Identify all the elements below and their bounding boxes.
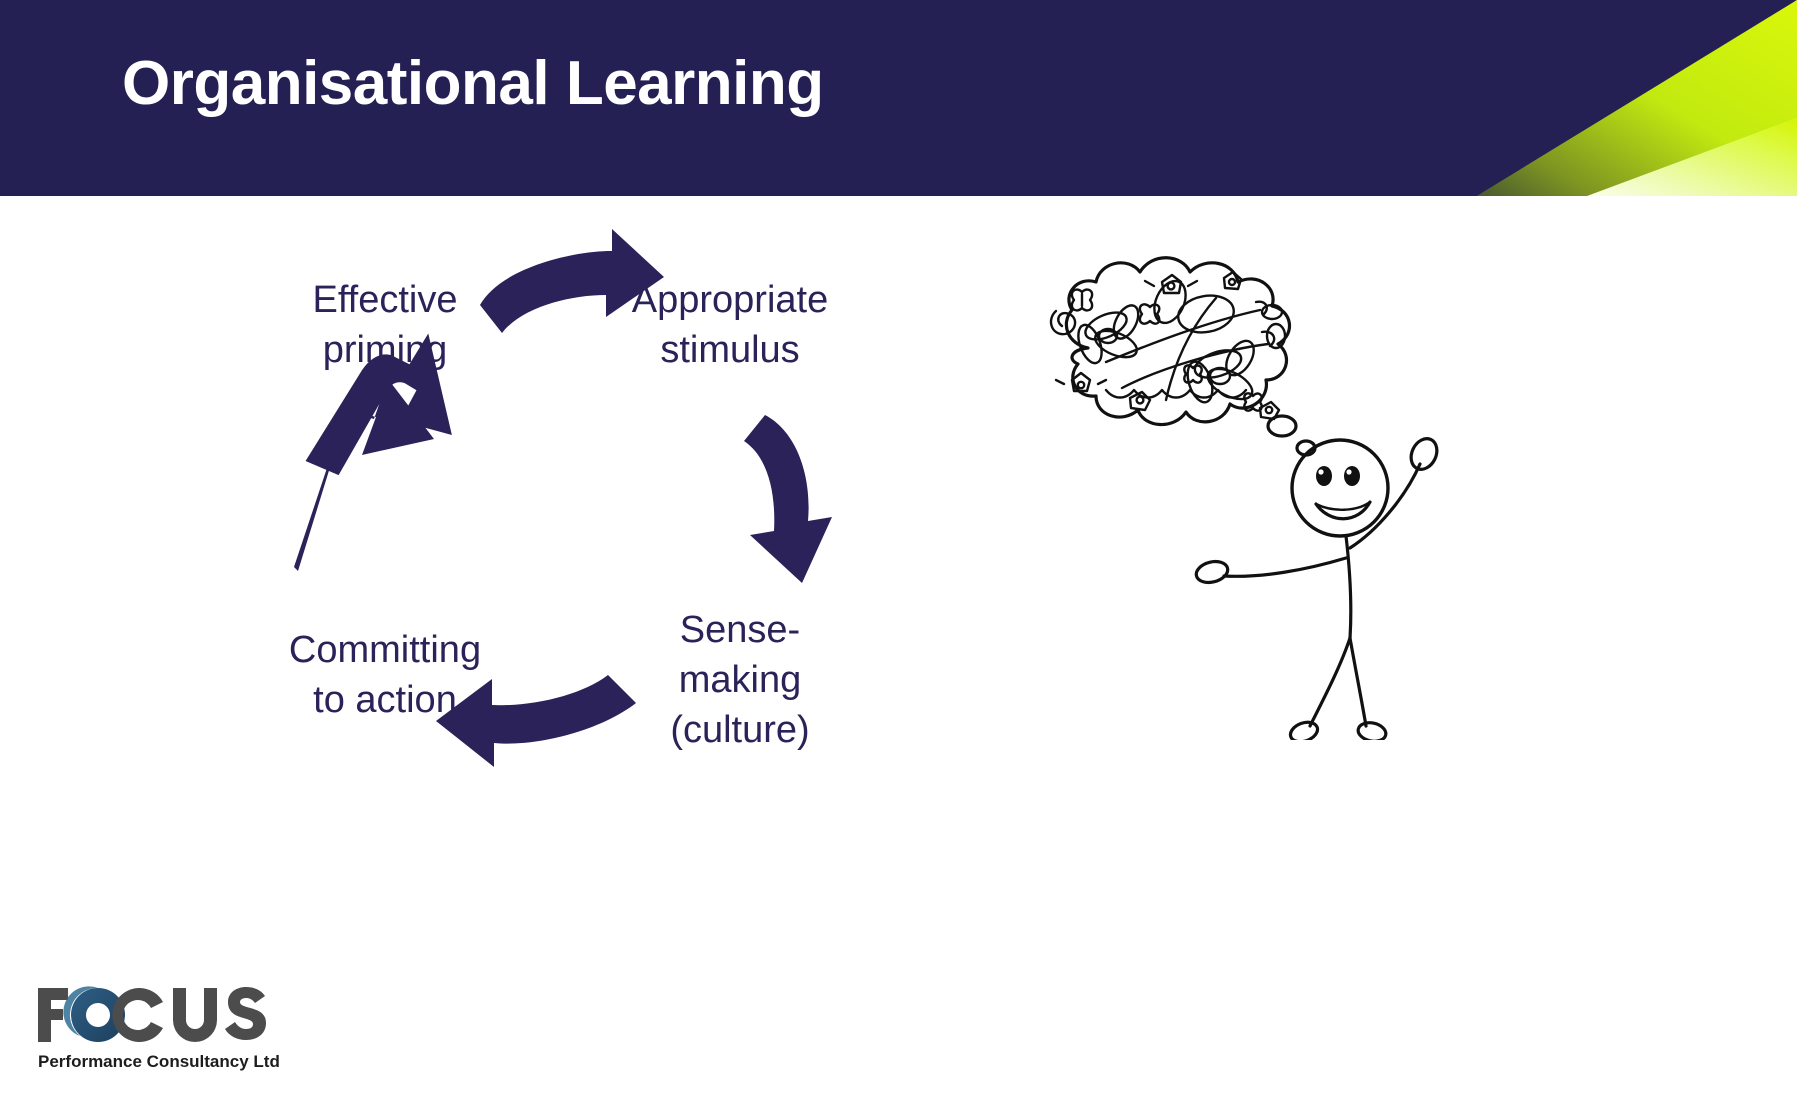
header-corner-decoration-icon — [1367, 0, 1797, 196]
flower-icon — [1056, 373, 1106, 391]
eye-left-icon — [1316, 466, 1332, 486]
leg-left-icon — [1310, 638, 1350, 726]
foot-right-icon — [1356, 720, 1387, 740]
head-icon — [1292, 440, 1388, 536]
focus-logo-svg: Performance Consultancy Ltd — [32, 980, 292, 1075]
butterfly-icon — [1184, 365, 1201, 382]
header-band: Organisational Learning — [0, 0, 1797, 196]
logo-letter-s — [225, 987, 266, 1040]
focus-logo: Performance Consultancy Ltd — [32, 980, 292, 1075]
butterfly-icon — [1140, 304, 1159, 323]
flower-icon — [1260, 402, 1279, 419]
thought-bubble-icon — [1066, 258, 1315, 455]
flower-icon — [1074, 301, 1144, 366]
bubble-contents-icon — [1051, 272, 1285, 419]
swirl-icon — [1051, 311, 1075, 334]
page-title: Organisational Learning — [122, 48, 824, 119]
foot-left-icon — [1288, 719, 1320, 740]
stick-figure-illustration — [1010, 240, 1440, 740]
logo-letter-u — [173, 988, 217, 1042]
logo-letter-f — [38, 988, 68, 1042]
leg-right-icon — [1350, 638, 1366, 726]
cycle-label-appropriate-stimulus: Appropriate stimulus — [595, 275, 865, 375]
logo-tagline: Performance Consultancy Ltd — [38, 1052, 280, 1071]
hand-right-icon — [1406, 434, 1440, 473]
cycle-diagram: Effective priming Appropriate stimulus S… — [240, 225, 920, 845]
stick-figure-svg — [1010, 240, 1440, 740]
slide-canvas: Organisational Learning Effective primin… — [0, 0, 1797, 1100]
arrow-right-icon — [744, 415, 832, 583]
logo-letter-c — [112, 988, 163, 1042]
flower-icon — [1145, 275, 1197, 293]
butterfly-icon — [1072, 290, 1092, 311]
eye-right-icon — [1344, 466, 1360, 486]
hand-left-icon — [1194, 558, 1230, 585]
arrow-left-icon — [294, 379, 434, 571]
cycle-label-effective-priming: Effective priming — [260, 275, 510, 375]
cycle-label-committing-to-action: Committing to action — [260, 625, 510, 725]
cycle-label-sense-making: Sense- making (culture) — [615, 605, 865, 755]
